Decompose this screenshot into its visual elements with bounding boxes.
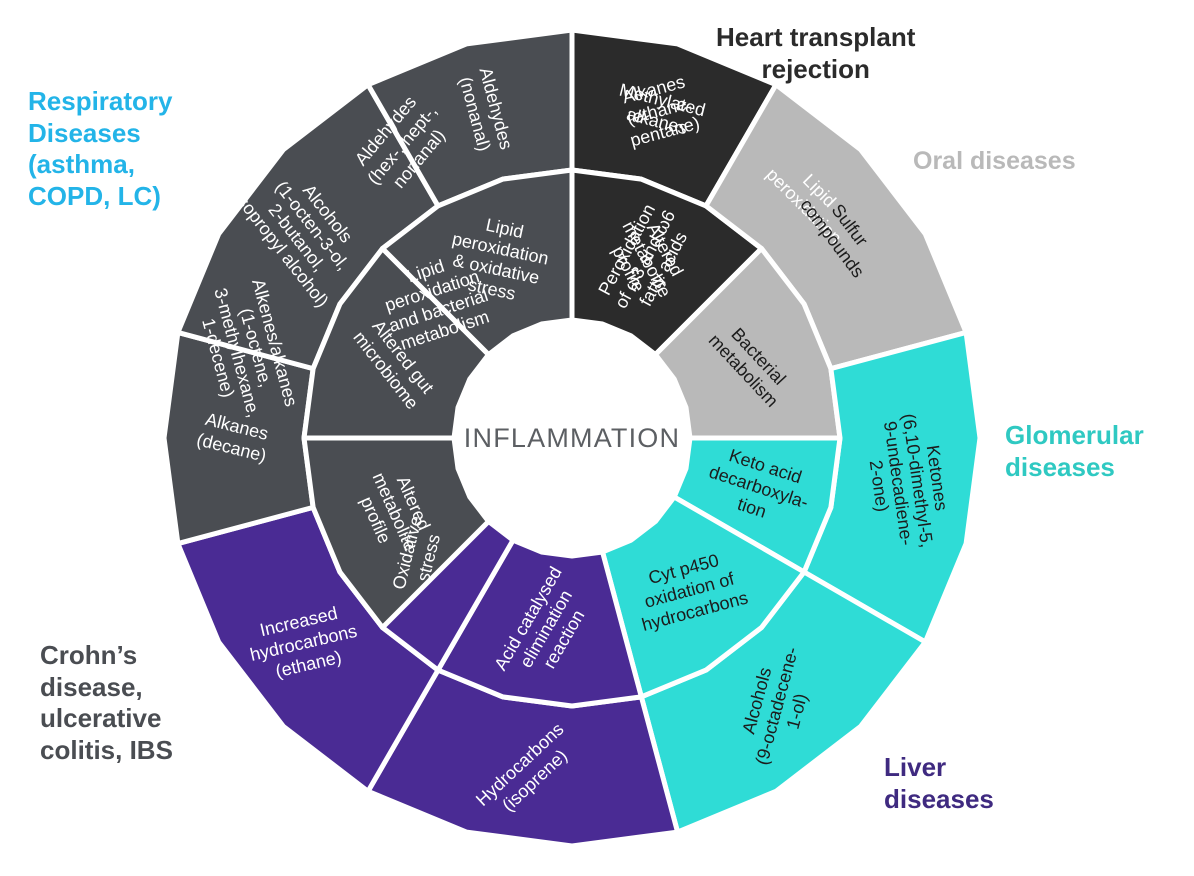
category-label-crohns: Crohn’s disease, ulcerative colitis, IBS xyxy=(40,640,173,767)
category-label-glomerular: Glomerular diseases xyxy=(1005,420,1144,483)
category-label-liver: Liver diseases xyxy=(884,752,994,815)
diagram-canvas: Alkanes(ethane,pentane)Lipidperoxidation… xyxy=(0,0,1194,876)
category-label-respiratory: Respiratory Diseases (asthma, COPD, LC) xyxy=(28,86,173,213)
category-label-heart: Heart transplant rejection xyxy=(716,22,915,85)
category-label-oral: Oral diseases xyxy=(913,146,1076,177)
center-title: INFLAMMATION xyxy=(464,423,680,453)
